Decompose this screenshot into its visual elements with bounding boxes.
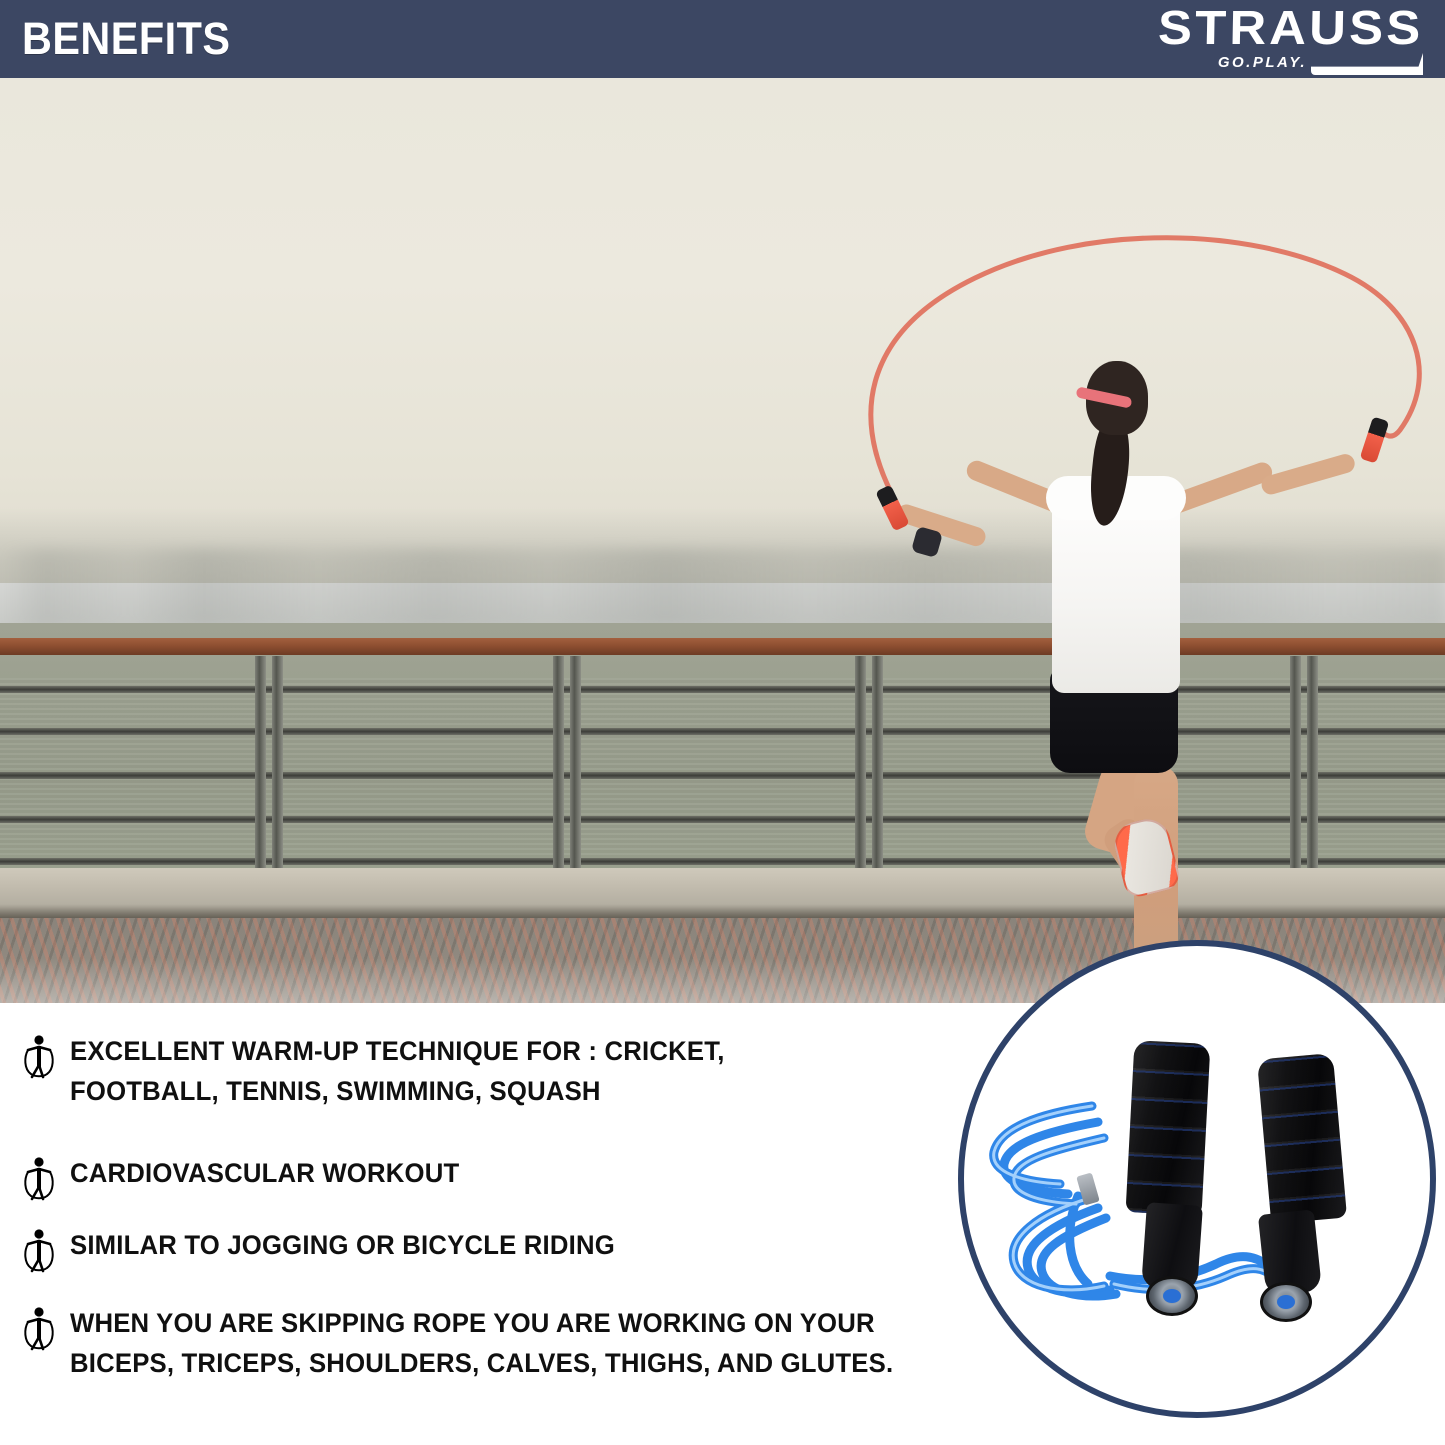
benefit-item: SIMILAR TO JOGGING OR BICYCLE RIDING: [22, 1225, 782, 1273]
product-photo: [964, 946, 1430, 1412]
brand-wordmark: STRAUSS: [1157, 5, 1423, 53]
skipping-person-icon: [22, 1155, 56, 1201]
foam-handle-right: [1257, 1053, 1347, 1224]
benefit-item: EXCELLENT WARM-UP TECHNIQUE FOR : CRICKE…: [22, 1031, 922, 1112]
benefits-list: EXCELLENT WARM-UP TECHNIQUE FOR : CRICKE…: [0, 1003, 960, 1445]
benefit-text: EXCELLENT WARM-UP TECHNIQUE FOR : CRICKE…: [70, 1031, 725, 1112]
forearm-right: [1259, 452, 1357, 497]
brand-tagline: GO.PLAY.: [1218, 55, 1307, 70]
swoosh-icon: [1311, 53, 1423, 75]
handle-ribbing: [1126, 1040, 1211, 1216]
ball-bearing-right: [1260, 1282, 1312, 1322]
benefit-text: CARDIOVASCULAR WORKOUT: [70, 1153, 459, 1193]
benefit-item: WHEN YOU ARE SKIPPING ROPE YOU ARE WORKI…: [22, 1303, 962, 1384]
benefit-text: SIMILAR TO JOGGING OR BICYCLE RIDING: [70, 1225, 615, 1265]
skipping-person-icon: [22, 1227, 56, 1273]
header-bar: BENEFITS STRAUSS GO.PLAY.: [0, 0, 1445, 78]
benefit-text: WHEN YOU ARE SKIPPING ROPE YOU ARE WORKI…: [70, 1303, 893, 1384]
rope-handle-right: [1360, 416, 1390, 463]
skipping-person-icon: [22, 1033, 56, 1079]
ball-bearing-left: [1146, 1276, 1198, 1316]
handle-ribbing: [1257, 1053, 1347, 1224]
skipping-person-icon: [22, 1305, 56, 1351]
brand-logo: STRAUSS GO.PLAY.: [1097, 3, 1427, 75]
page-title: BENEFITS: [22, 13, 230, 65]
hero-photo: [0, 78, 1445, 1003]
forearm-left: [895, 502, 988, 548]
skipping-woman: [0, 78, 1445, 1003]
bearing-core: [1163, 1289, 1181, 1303]
foam-handle-left: [1126, 1040, 1211, 1216]
product-image-circle: [958, 940, 1436, 1418]
benefit-item: CARDIOVASCULAR WORKOUT: [22, 1153, 722, 1201]
bearing-core: [1277, 1295, 1295, 1309]
